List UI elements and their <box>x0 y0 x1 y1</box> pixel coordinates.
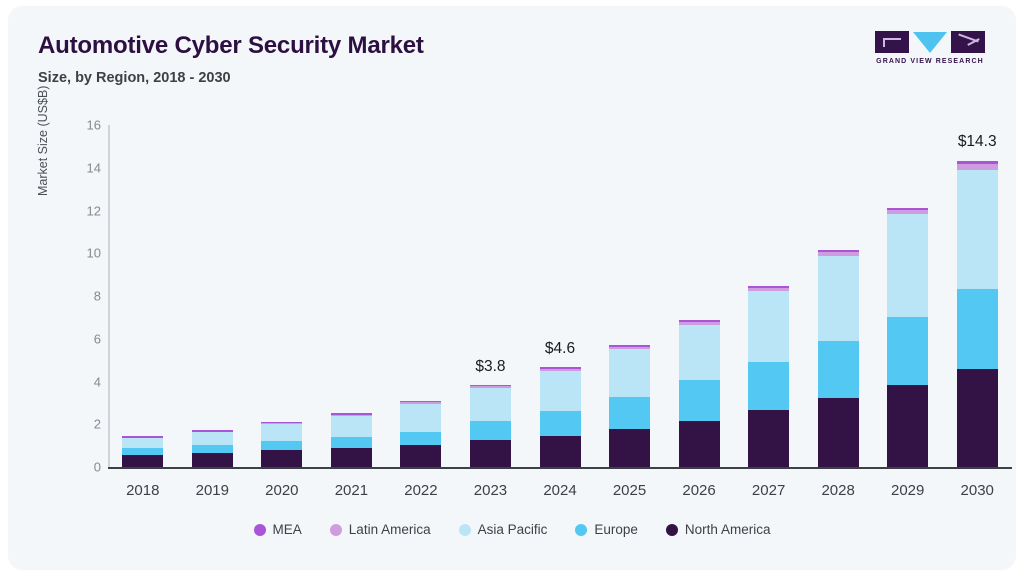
bar-segment[interactable] <box>887 210 928 214</box>
bar-segment[interactable] <box>331 437 372 448</box>
legend-label: Europe <box>594 522 638 537</box>
bar-segment[interactable] <box>609 397 650 429</box>
y-tick-label: 0 <box>57 460 101 475</box>
y-tick-label: 4 <box>57 374 101 389</box>
bar-segment[interactable] <box>261 450 302 467</box>
bar-segment[interactable] <box>331 416 372 437</box>
bar-group[interactable] <box>887 125 928 467</box>
bar-segment[interactable] <box>122 438 163 447</box>
legend-swatch-icon <box>254 524 266 536</box>
chart-plot-area: Market Size (US$B) 0246810121416 $3.8$4.… <box>8 6 1016 570</box>
bar-segment[interactable] <box>748 288 789 291</box>
bar-segment[interactable] <box>400 404 441 432</box>
bar-segment[interactable] <box>679 320 720 322</box>
bar-segment[interactable] <box>470 440 511 467</box>
y-tick-label: 16 <box>57 118 101 133</box>
bar-segment[interactable] <box>679 322 720 325</box>
bar-segment[interactable] <box>540 369 581 371</box>
bar-segment[interactable] <box>122 455 163 467</box>
bar-segment[interactable] <box>470 421 511 439</box>
bar-segment[interactable] <box>887 317 928 385</box>
bar-segment[interactable] <box>192 453 233 467</box>
bar-segment[interactable] <box>679 380 720 421</box>
y-axis-ticks: 0246810121416 <box>28 6 101 570</box>
legend-item[interactable]: Asia Pacific <box>459 522 548 537</box>
bar-segment[interactable] <box>192 432 233 444</box>
bar-segment[interactable] <box>122 448 163 455</box>
bar-segment[interactable] <box>540 411 581 436</box>
x-axis-line <box>108 467 1012 469</box>
bar-group[interactable] <box>192 125 233 467</box>
bar-group[interactable] <box>818 125 859 467</box>
bar-segment[interactable] <box>957 164 998 170</box>
bar-segment[interactable] <box>261 424 302 440</box>
bar-segment[interactable] <box>957 369 998 467</box>
bar-segment[interactable] <box>400 432 441 445</box>
legend-swatch-icon <box>666 524 678 536</box>
bar-group[interactable] <box>261 125 302 467</box>
legend-swatch-icon <box>459 524 471 536</box>
chart-card: Automotive Cyber Security Market Size, b… <box>8 6 1016 570</box>
bar-segment[interactable] <box>540 367 581 369</box>
y-tick-label: 8 <box>57 289 101 304</box>
legend-swatch-icon <box>575 524 587 536</box>
legend-item[interactable]: MEA <box>254 522 302 537</box>
bar-segment[interactable] <box>400 445 441 467</box>
legend-item[interactable]: North America <box>666 522 771 537</box>
y-tick-label: 12 <box>57 203 101 218</box>
bar-segment[interactable] <box>887 385 928 467</box>
legend-item[interactable]: Latin America <box>330 522 431 537</box>
bar-segment[interactable] <box>400 401 441 403</box>
bar-group[interactable] <box>748 125 789 467</box>
y-tick-label: 10 <box>57 246 101 261</box>
bar-segment[interactable] <box>818 250 859 252</box>
bar-segment[interactable] <box>679 421 720 467</box>
bar-value-label: $4.6 <box>500 340 620 358</box>
bar-segment[interactable] <box>470 385 511 387</box>
legend-label: Asia Pacific <box>478 522 548 537</box>
y-tick-label: 6 <box>57 331 101 346</box>
legend-label: Latin America <box>349 522 431 537</box>
bar-series-container: $3.8$4.6$14.3 <box>108 125 1012 467</box>
bar-segment[interactable] <box>818 398 859 467</box>
bar-group[interactable] <box>331 125 372 467</box>
bar-segment[interactable] <box>748 286 789 288</box>
bar-segment[interactable] <box>748 410 789 467</box>
legend-item[interactable]: Europe <box>575 522 638 537</box>
bar-segment[interactable] <box>400 402 441 404</box>
bar-segment[interactable] <box>609 429 650 467</box>
bar-group[interactable] <box>609 125 650 467</box>
bar-segment[interactable] <box>748 362 789 409</box>
bar-segment[interactable] <box>609 345 650 347</box>
bar-segment[interactable] <box>470 386 511 388</box>
bar-segment[interactable] <box>818 252 859 256</box>
bar-segment[interactable] <box>957 170 998 289</box>
bar-group[interactable] <box>679 125 720 467</box>
legend-label: MEA <box>273 522 302 537</box>
bar-segment[interactable] <box>192 430 233 432</box>
bar-group[interactable]: $14.3 <box>957 125 998 467</box>
bar-segment[interactable] <box>540 436 581 467</box>
bar-segment[interactable] <box>609 349 650 397</box>
bar-value-label: $14.3 <box>917 133 1016 151</box>
bar-segment[interactable] <box>957 161 998 164</box>
bar-segment[interactable] <box>331 413 372 415</box>
bar-segment[interactable] <box>679 325 720 381</box>
bar-segment[interactable] <box>192 445 233 453</box>
bar-segment[interactable] <box>818 256 859 342</box>
bar-segment[interactable] <box>957 289 998 369</box>
bar-segment[interactable] <box>470 388 511 421</box>
bar-segment[interactable] <box>540 371 581 411</box>
bar-segment[interactable] <box>261 422 302 424</box>
bar-segment[interactable] <box>331 448 372 467</box>
bar-segment[interactable] <box>818 341 859 398</box>
x-tick-label: 2030 <box>927 482 1016 499</box>
bar-segment[interactable] <box>122 436 163 438</box>
bar-value-label: $3.8 <box>430 358 550 376</box>
bar-segment[interactable] <box>261 441 302 451</box>
bar-segment[interactable] <box>609 347 650 350</box>
y-tick-label: 14 <box>57 160 101 175</box>
chart-page: Automotive Cyber Security Market Size, b… <box>0 0 1024 576</box>
chart-legend: MEALatin AmericaAsia PacificEuropeNorth … <box>8 522 1016 537</box>
y-tick-label: 2 <box>57 417 101 432</box>
bar-group[interactable] <box>122 125 163 467</box>
bar-segment[interactable] <box>748 291 789 362</box>
bar-group[interactable] <box>400 125 441 467</box>
bar-group[interactable]: $3.8 <box>470 125 511 467</box>
legend-label: North America <box>685 522 771 537</box>
bar-segment[interactable] <box>331 415 372 417</box>
bar-segment[interactable] <box>887 208 928 210</box>
legend-swatch-icon <box>330 524 342 536</box>
bar-group[interactable]: $4.6 <box>540 125 581 467</box>
bar-segment[interactable] <box>887 214 928 317</box>
